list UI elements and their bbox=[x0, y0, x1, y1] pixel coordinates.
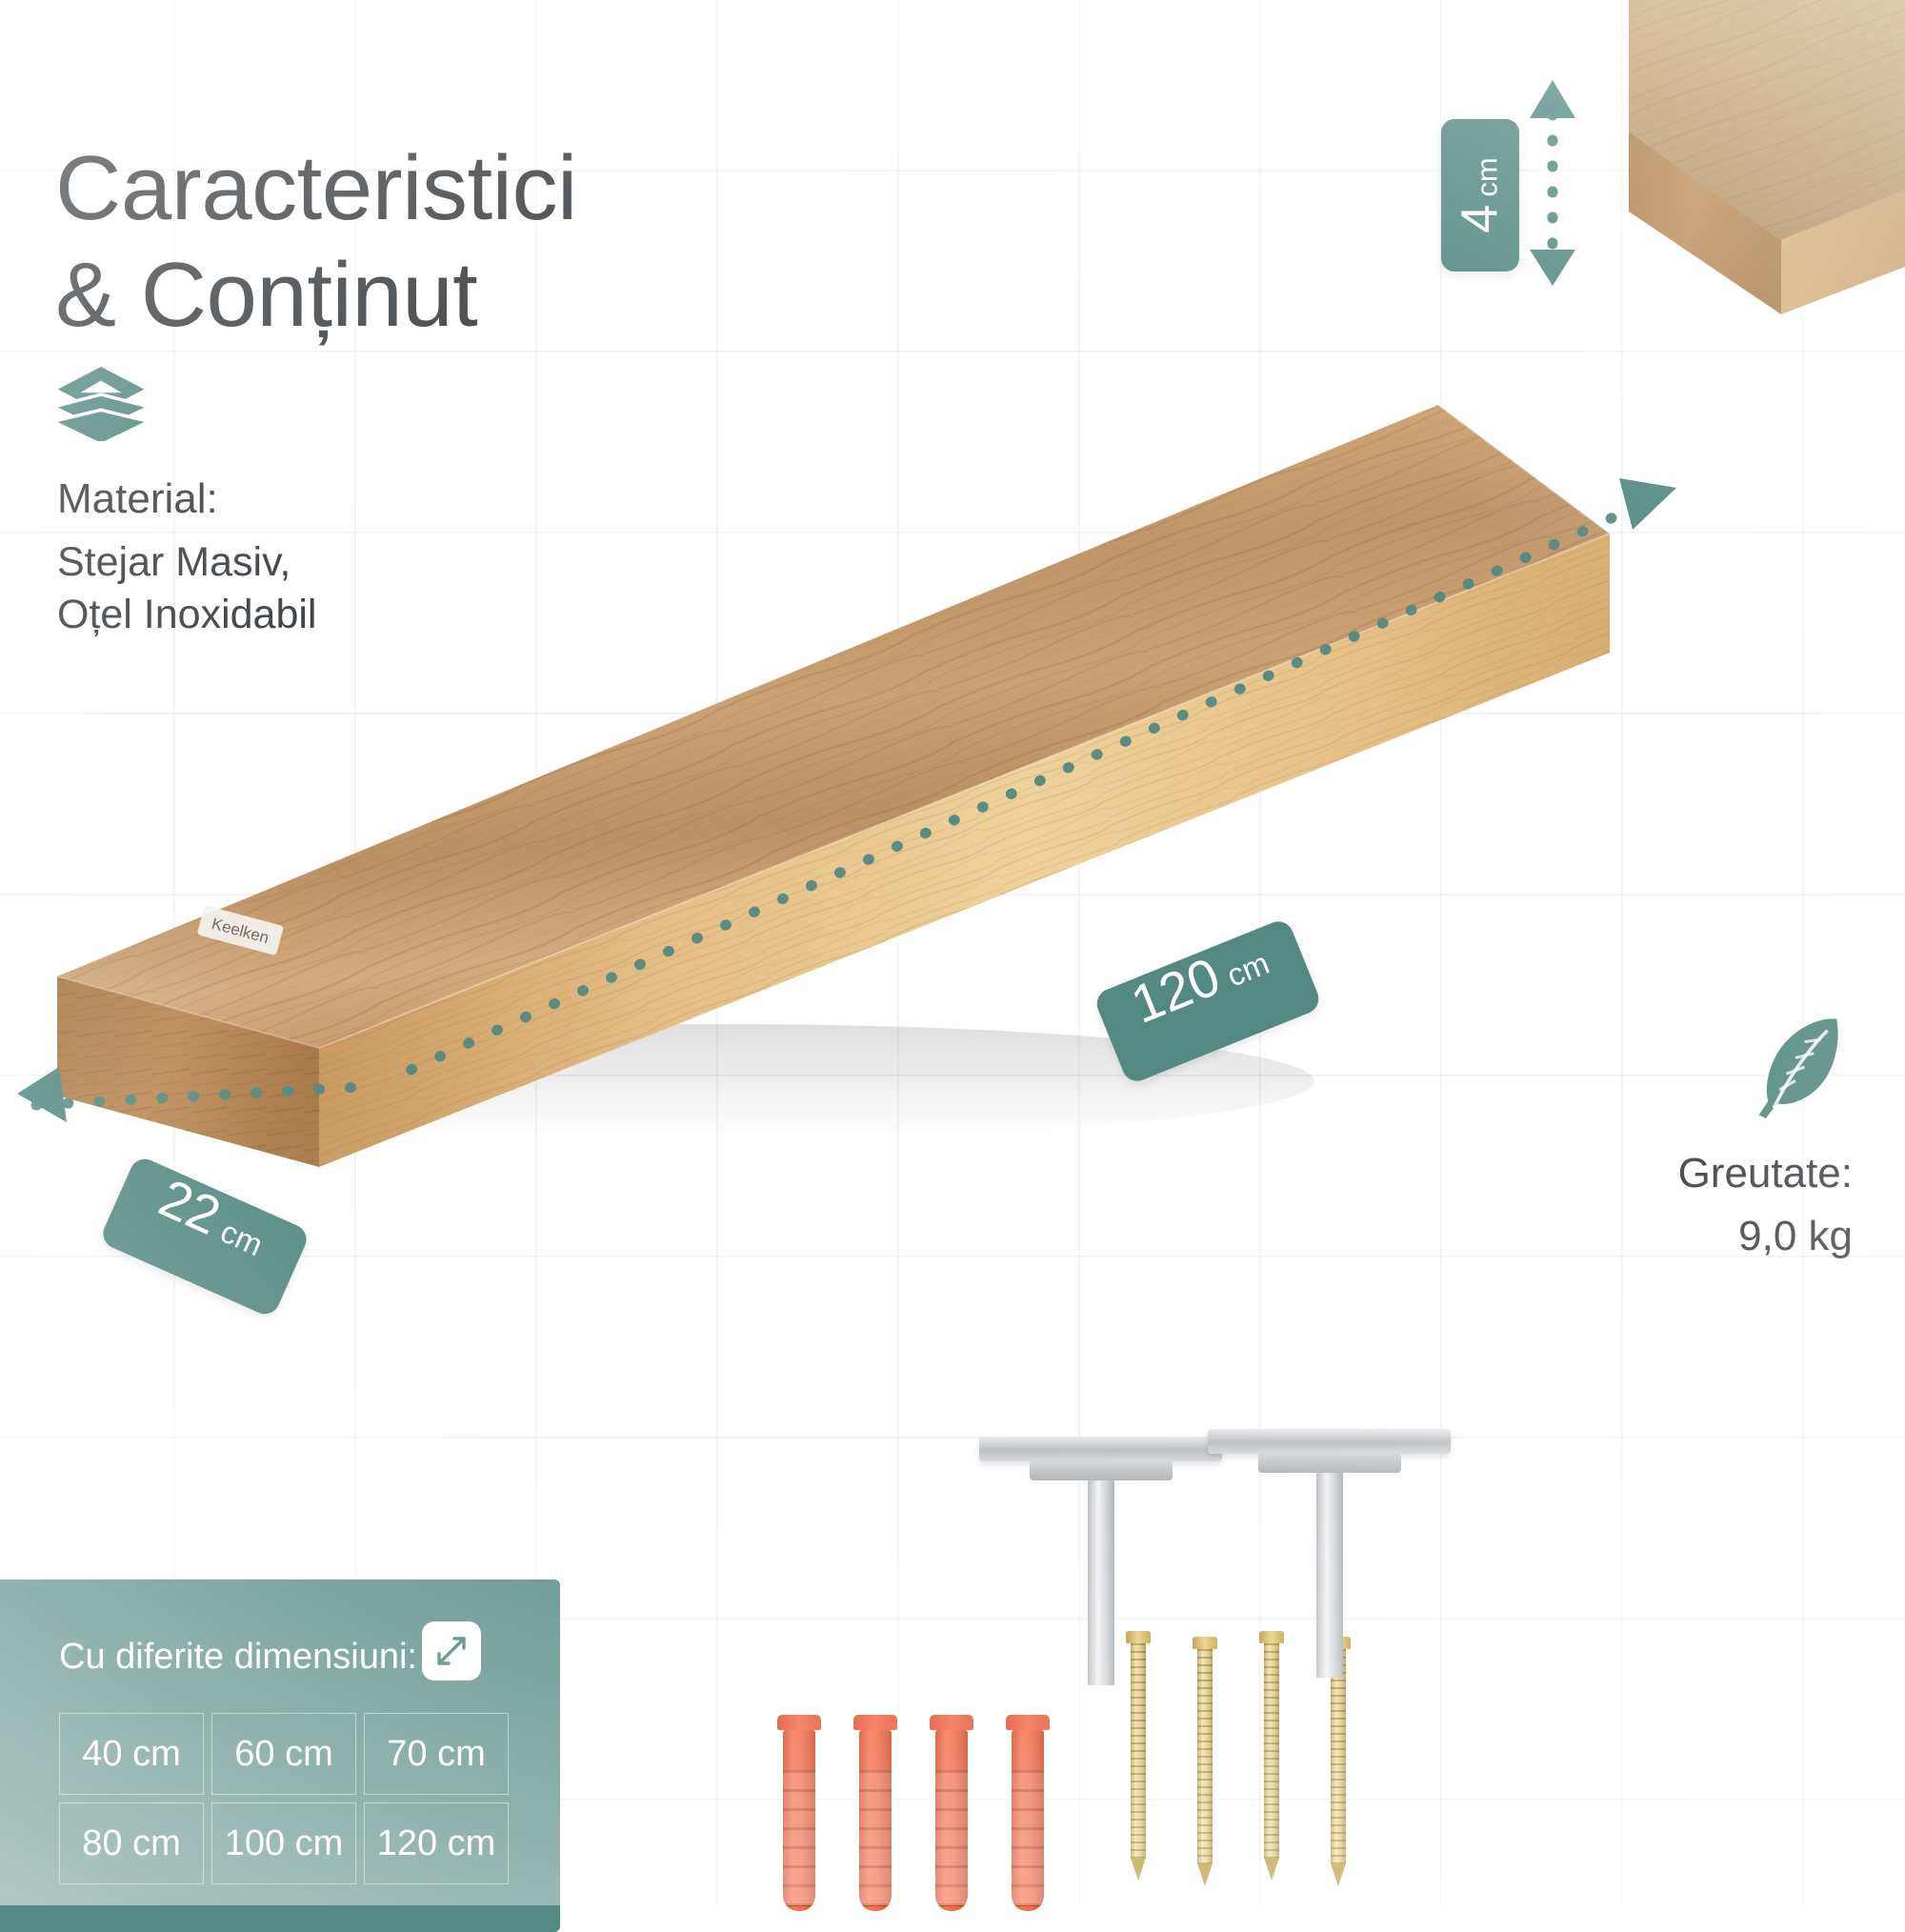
wall-plug bbox=[1006, 1715, 1050, 1911]
resize-arrows-icon bbox=[422, 1621, 481, 1680]
dimension-number: 4 bbox=[1454, 205, 1506, 233]
size-chip[interactable]: 120 cm bbox=[364, 1802, 509, 1884]
screw-shank bbox=[1331, 1649, 1346, 1863]
size-chip[interactable]: 70 cm bbox=[364, 1713, 509, 1795]
feather-icon bbox=[1738, 1010, 1853, 1124]
material-value: Stejar Masiv, Oțel Inoxidabil bbox=[57, 536, 467, 641]
screw-tip bbox=[1197, 1863, 1213, 1886]
size-chip[interactable]: 60 cm bbox=[211, 1713, 356, 1795]
bracket-collar bbox=[1258, 1454, 1401, 1473]
wall-plug-body bbox=[859, 1730, 892, 1911]
bracket-plate bbox=[979, 1437, 1222, 1461]
material-label: Material: bbox=[57, 475, 467, 523]
sizes-panel-title: Cu diferite dimensiuni: bbox=[59, 1637, 417, 1678]
wall-plug bbox=[853, 1715, 897, 1911]
bracket-plate bbox=[1208, 1429, 1451, 1454]
layers-icon bbox=[57, 367, 145, 441]
mounting-bracket bbox=[1208, 1429, 1451, 1678]
bracket-collar bbox=[1030, 1461, 1173, 1480]
wall-plug-head bbox=[930, 1715, 973, 1730]
wall-plug-head bbox=[1006, 1715, 1050, 1730]
weight-value: 9,0 kg bbox=[1443, 1213, 1853, 1260]
dimension-unit: cm bbox=[216, 1215, 268, 1260]
weight-block: Greutate: 9,0 kg bbox=[1443, 1010, 1853, 1260]
size-chip-list: 40 cm 60 cm 70 cm 80 cm 100 cm 120 cm bbox=[59, 1713, 509, 1884]
screw-tip bbox=[1131, 1858, 1146, 1881]
wall-plug bbox=[777, 1715, 821, 1911]
size-chip[interactable]: 40 cm bbox=[59, 1713, 204, 1795]
wall-plug-head bbox=[853, 1715, 897, 1730]
wall-plug-body bbox=[935, 1730, 968, 1911]
wall-plug-body bbox=[783, 1730, 815, 1911]
page-title: Caracteristici & Conținut bbox=[55, 135, 912, 348]
sizes-panel: Cu diferite dimensiuni: 40 cm 60 cm 70 c… bbox=[0, 1580, 560, 1932]
wall-plug-head bbox=[777, 1715, 821, 1730]
material-block: Material: Stejar Masiv, Oțel Inoxidabil bbox=[57, 367, 467, 641]
bracket-rod bbox=[1316, 1473, 1343, 1678]
dimension-unit: cm bbox=[1223, 947, 1273, 992]
screw-tip bbox=[1331, 1863, 1346, 1886]
size-chip[interactable]: 100 cm bbox=[211, 1802, 356, 1884]
dimension-unit: cm bbox=[1473, 157, 1502, 196]
weight-label: Greutate: bbox=[1443, 1150, 1853, 1197]
dimension-badge-thickness: 4 cm bbox=[1441, 119, 1519, 272]
wall-plug-body bbox=[1012, 1730, 1044, 1911]
mounting-bracket bbox=[979, 1437, 1222, 1685]
screw-tip bbox=[1264, 1858, 1279, 1881]
size-chip[interactable]: 80 cm bbox=[59, 1802, 204, 1884]
wall-plug bbox=[930, 1715, 973, 1911]
bracket-rod bbox=[1088, 1480, 1114, 1685]
